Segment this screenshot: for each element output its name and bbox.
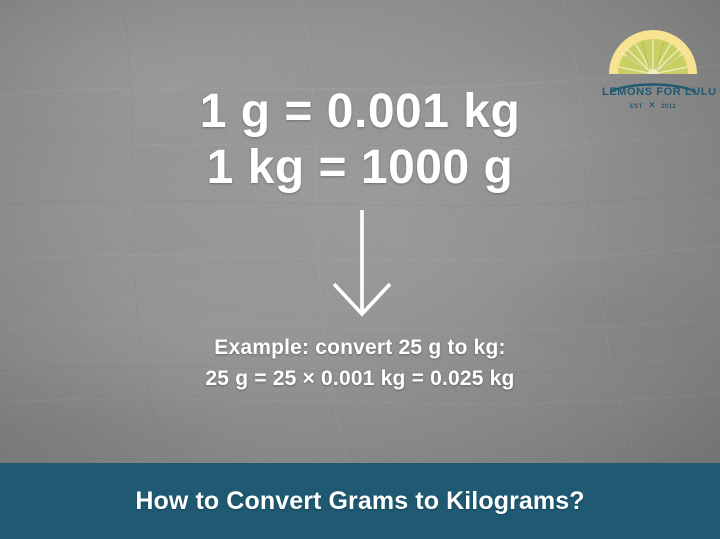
slide-canvas: LEMONS FOR LULU EST × 2012 1 g = 0.001 k… bbox=[0, 0, 720, 539]
bottom-banner: How to Convert Grams to Kilograms? bbox=[0, 463, 720, 539]
down-arrow-icon bbox=[330, 208, 394, 320]
example-calculation-line: 25 g = 25 × 0.001 kg = 0.025 kg bbox=[0, 363, 720, 394]
formula-line-kilograms-to-grams: 1 kg = 1000 g bbox=[0, 140, 720, 196]
example-prompt-line: Example: convert 25 g to kg: bbox=[0, 332, 720, 363]
formula-line-grams-to-kilograms: 1 g = 0.001 kg bbox=[0, 84, 720, 140]
example-block: Example: convert 25 g to kg: 25 g = 25 ×… bbox=[0, 332, 720, 394]
banner-title: How to Convert Grams to Kilograms? bbox=[135, 487, 584, 516]
formula-block: 1 g = 0.001 kg 1 kg = 1000 g bbox=[0, 84, 720, 196]
